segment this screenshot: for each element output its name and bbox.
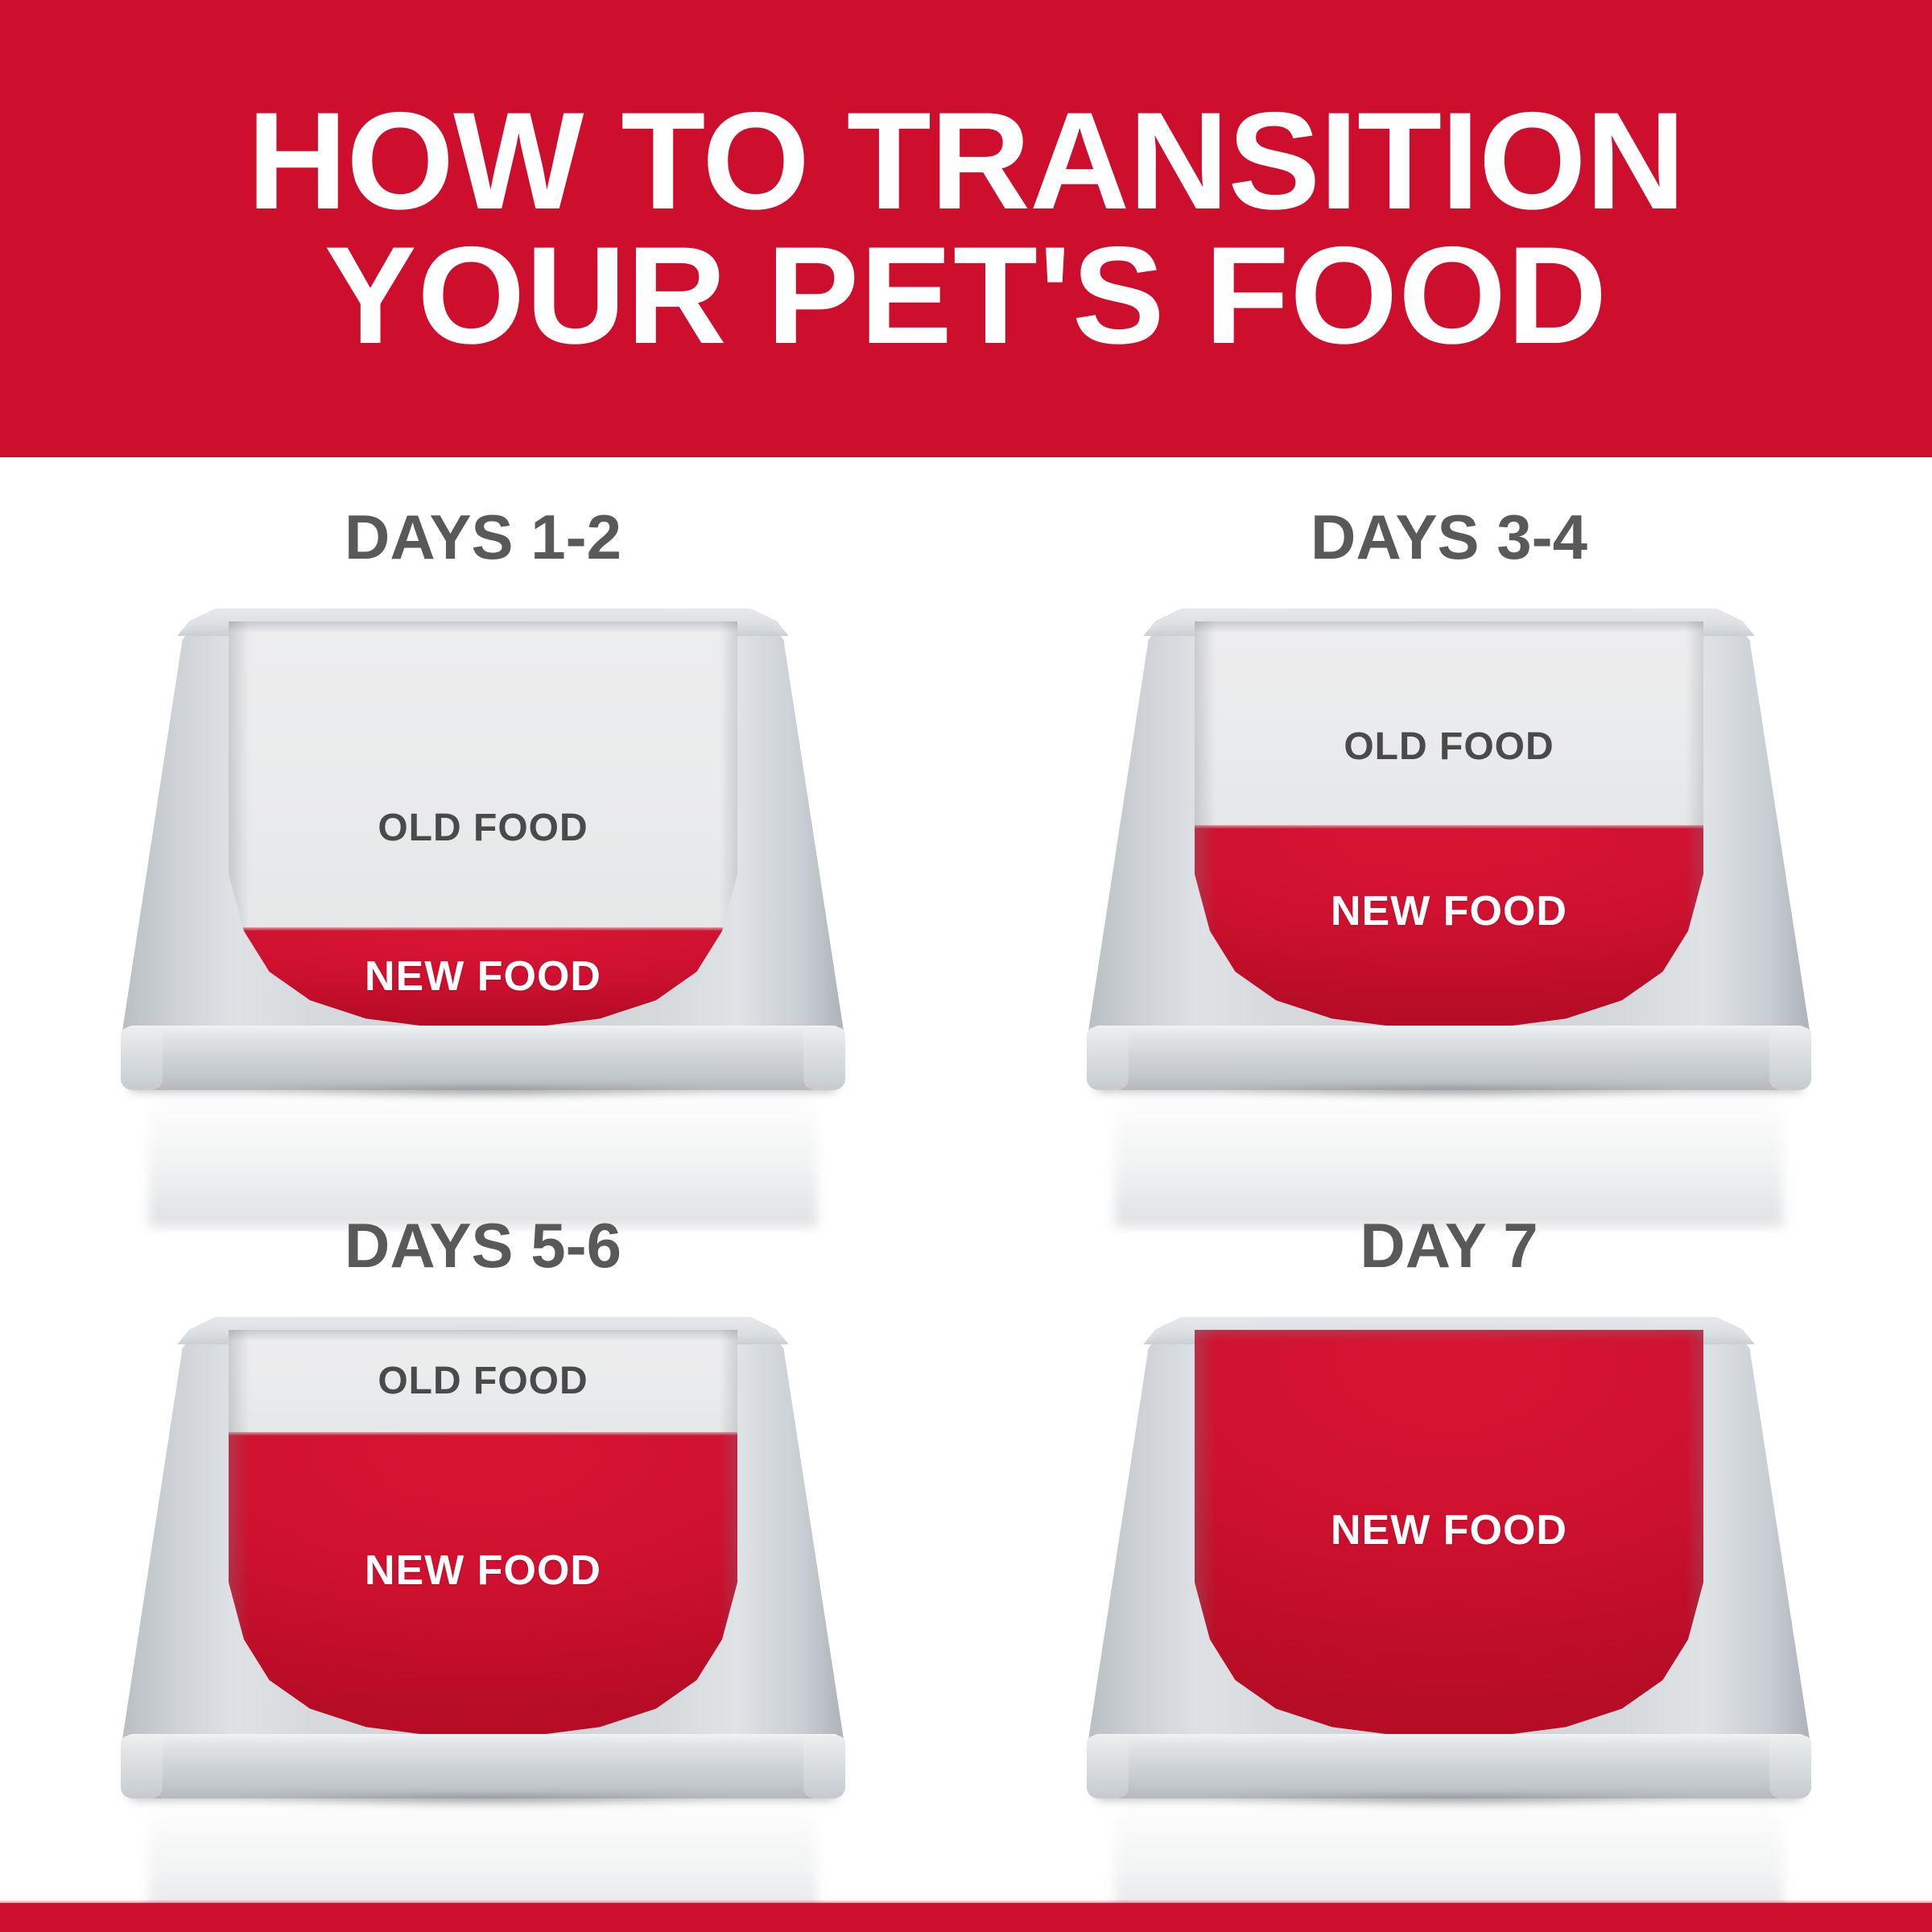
old-food-label: OLD FOOD — [1195, 728, 1703, 766]
food-level-divider — [1195, 825, 1703, 829]
bowl-contact-shadow — [169, 1795, 797, 1813]
food-level-divider — [229, 927, 737, 931]
footer-bar — [0, 1903, 1932, 1932]
new-food-label: NEW FOOD — [229, 1550, 737, 1591]
transition-steps-grid: DAYS 1-2 OLD FOOD NEW FOOD — [0, 457, 1932, 1903]
bowl-base-cap-right — [803, 1027, 845, 1090]
old-food-label: OLD FOOD — [229, 1362, 737, 1401]
bowl-base-cap-right — [1769, 1736, 1811, 1798]
food-bowl-days-5-6: OLD FOOD NEW FOOD — [121, 1317, 845, 1824]
bowl-interior: OLD FOOD NEW FOOD — [1195, 621, 1703, 1029]
header-banner: HOW TO TRANSITION YOUR PET'S FOOD — [0, 0, 1932, 457]
bowl-base-cap-right — [1769, 1027, 1811, 1090]
food-bowl-days-3-4: OLD FOOD NEW FOOD — [1087, 609, 1811, 1116]
infographic-canvas: HOW TO TRANSITION YOUR PET'S FOOD DAYS 1… — [0, 0, 1932, 1932]
old-food-label: OLD FOOD — [229, 809, 737, 848]
new-food-label: NEW FOOD — [1195, 1509, 1703, 1551]
transition-step-day-7: DAY 7 NEW FOOD — [966, 1214, 1932, 1922]
new-food-label: NEW FOOD — [229, 956, 737, 997]
bowl-interior: NEW FOOD — [1195, 1330, 1703, 1737]
bowl-interior: OLD FOOD NEW FOOD — [229, 621, 737, 1029]
bowl-base-cap-left — [1087, 1736, 1129, 1798]
bowl-contact-shadow — [1135, 1087, 1763, 1104]
food-bowl-days-1-2: OLD FOOD NEW FOOD — [121, 609, 845, 1116]
bowl-contact-shadow — [1135, 1795, 1763, 1813]
bowl-base-cap-left — [121, 1736, 163, 1798]
page-title-line-1: HOW TO TRANSITION — [121, 94, 1811, 229]
page-title: HOW TO TRANSITION YOUR PET'S FOOD — [121, 94, 1811, 363]
bowl-base — [125, 1027, 841, 1090]
step-label-days-3-4: DAYS 3-4 — [966, 506, 1932, 568]
bowl-base — [125, 1736, 841, 1798]
bowl-contact-shadow — [169, 1087, 797, 1104]
bowl-base — [1091, 1736, 1807, 1798]
bowl-base-cap-right — [803, 1736, 845, 1798]
old-food-fill — [229, 621, 737, 927]
step-label-days-1-2: DAYS 1-2 — [0, 506, 966, 568]
page-title-line-2: YOUR PET'S FOOD — [121, 229, 1811, 363]
step-label-day-7: DAY 7 — [966, 1214, 1932, 1277]
transition-step-days-5-6: DAYS 5-6 OLD FOOD NEW FOOD — [0, 1214, 966, 1922]
bowl-interior: OLD FOOD NEW FOOD — [229, 1330, 737, 1737]
bowl-base-cap-left — [1087, 1027, 1129, 1090]
new-food-label: NEW FOOD — [1195, 890, 1703, 932]
food-level-divider — [229, 1432, 737, 1436]
transition-step-days-3-4: DAYS 3-4 OLD FOOD NEW FOOD — [966, 506, 1932, 1214]
bowl-base-cap-left — [121, 1027, 163, 1090]
bowl-reflection — [149, 1090, 817, 1227]
transition-step-days-1-2: DAYS 1-2 OLD FOOD NEW FOOD — [0, 506, 966, 1214]
food-bowl-day-7: NEW FOOD — [1087, 1317, 1811, 1824]
bowl-reflection — [1115, 1090, 1783, 1227]
old-food-fill — [1195, 621, 1703, 825]
bowl-base — [1091, 1027, 1807, 1090]
step-label-days-5-6: DAYS 5-6 — [0, 1214, 966, 1277]
